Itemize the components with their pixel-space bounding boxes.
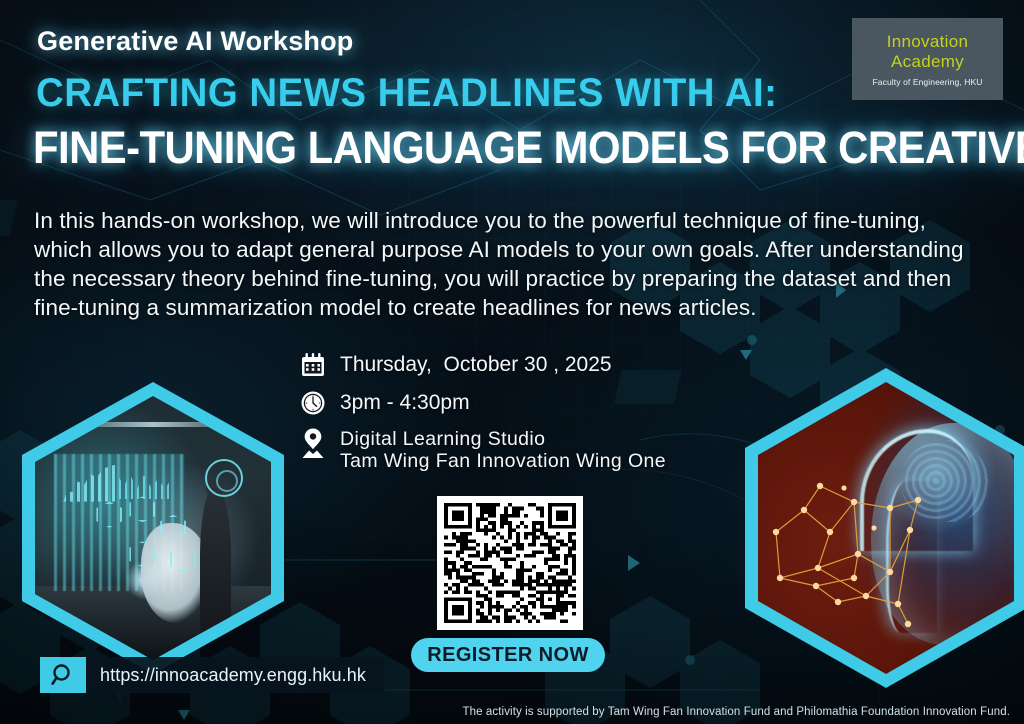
event-time-row: 3pm - 4:30pm bbox=[296, 390, 666, 416]
search-icon[interactable] bbox=[40, 657, 86, 693]
event-location-row: Digital Learning StudioTam Wing Fan Inno… bbox=[296, 428, 666, 472]
website-url-text[interactable]: https://innoacademy.engg.hku.hk bbox=[86, 665, 384, 686]
clock-icon bbox=[296, 390, 330, 416]
logo-line2: Academy bbox=[891, 52, 964, 71]
event-date-text: Thursday, October 30 , 2025 bbox=[330, 352, 612, 378]
poster-canvas: Generative AI Workshop CRAFTING NEWS HEA… bbox=[0, 0, 1024, 724]
left-hexagon-image bbox=[22, 382, 284, 674]
venue-line-1: Digital Learning Studio bbox=[340, 428, 545, 450]
event-details: Thursday, October 30 , 2025 bbox=[296, 352, 666, 472]
network-nodes-graphic bbox=[758, 382, 1014, 674]
event-time-text: 3pm - 4:30pm bbox=[330, 390, 470, 416]
innovation-academy-logo: Innovation Academy Faculty of Engineerin… bbox=[852, 18, 1003, 100]
register-now-button[interactable]: REGISTER NOW bbox=[411, 638, 605, 672]
logo-subtitle: Faculty of Engineering, HKU bbox=[873, 77, 983, 87]
poster-title-line2: FINE-TUNING LANGUAGE MODELS FOR CREATIVE… bbox=[33, 122, 1024, 174]
calendar-icon bbox=[296, 352, 330, 378]
website-url-bar[interactable]: https://innoacademy.engg.hku.hk bbox=[40, 657, 384, 693]
qr-code[interactable] bbox=[437, 496, 583, 630]
right-hexagon-image bbox=[745, 368, 1024, 688]
workshop-kicker: Generative AI Workshop bbox=[37, 26, 353, 57]
qr-code-canvas bbox=[444, 503, 576, 623]
venue-line-2: Tam Wing Fan Innovation Wing One bbox=[340, 450, 666, 472]
poster-title-line1: CRAFTING NEWS HEADLINES WITH AI: bbox=[36, 71, 777, 116]
event-venue-text: Digital Learning StudioTam Wing Fan Inno… bbox=[330, 428, 666, 472]
location-pin-icon bbox=[296, 428, 330, 458]
sponsor-note: The activity is supported by Tam Wing Fa… bbox=[462, 706, 1010, 718]
logo-line1: Innovation bbox=[887, 32, 968, 51]
event-date-row: Thursday, October 30 , 2025 bbox=[296, 352, 666, 378]
workshop-description: In this hands-on workshop, we will intro… bbox=[34, 206, 984, 322]
